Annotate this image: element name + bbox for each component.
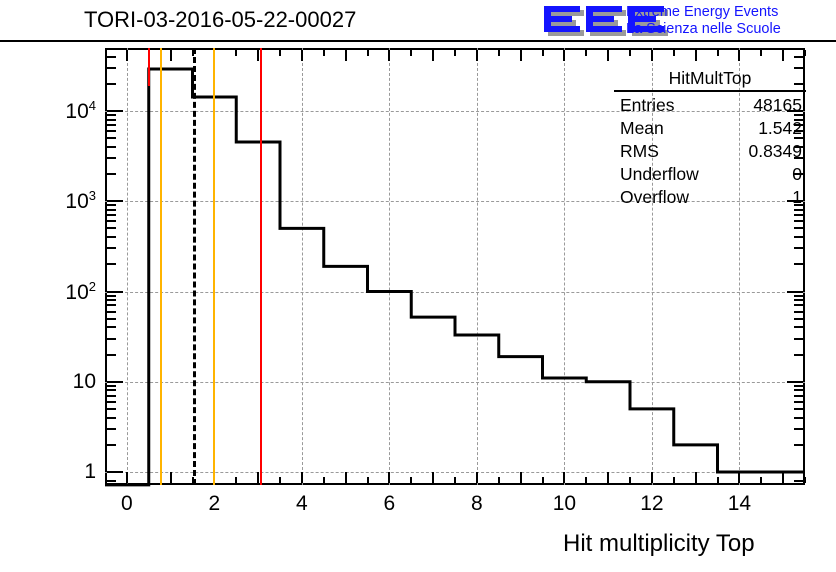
black-solid-marker [148,48,150,485]
stats-divider [614,90,806,92]
x-tick-label: 8 [471,492,483,516]
x-tick-label: 0 [121,492,133,516]
eee-tagline-2: La Scienza nelle Scuole [626,21,781,38]
stats-row-key: Underflow [620,163,699,186]
y-tick-label: 102 [0,279,96,305]
stats-row-key: Mean [620,117,664,140]
eee-logo-text: Extreme Energy Events La Scienza nelle S… [626,4,781,38]
stats-box: HitMultTop Entries48165Mean1.542RMS0.834… [612,66,808,212]
header-divider [0,40,836,42]
y-tick-label: 1 [0,460,96,484]
y-tick-label: 103 [0,188,96,214]
stats-row: RMS0.8349 [612,140,808,163]
page-title: TORI-03-2016-05-22-00027 [84,7,356,33]
x-tick-label: 10 [553,492,576,516]
stats-title: HitMultTop [612,66,808,90]
orange-marker-high [213,48,215,485]
stats-row: Entries48165 [612,94,808,117]
red-marker-left [148,48,150,86]
stats-row-value: 1 [792,186,802,209]
y-tick-label: 10 [0,370,96,394]
x-axis-title: Hit multiplicity Top [563,530,755,558]
orange-marker-low [160,48,162,485]
stats-row: Mean1.542 [612,117,808,140]
eee-logo: Extreme Energy Events La Scienza nelle S… [542,3,832,41]
stats-row-key: RMS [620,140,659,163]
eee-tagline-1: Extreme Energy Events [626,4,781,21]
stats-row-value: 0.8349 [748,140,802,163]
stats-row: Overflow1 [612,186,808,209]
stats-row: Underflow0 [612,163,808,186]
stats-row-value: 48165 [753,94,802,117]
stats-row-value: 1.542 [758,117,802,140]
stats-row-key: Entries [620,94,674,117]
red-marker [260,48,262,485]
histogram-plot: HitMultTop Entries48165Mean1.542RMS0.834… [105,48,805,485]
black-dashed-marker [193,48,196,485]
root-canvas: TORI-03-2016-05-22-00027 [0,0,836,572]
x-tick-label: 6 [384,492,396,516]
x-tick-label: 14 [728,492,751,516]
y-tick-label: 104 [0,98,96,124]
x-tick-label: 2 [209,492,221,516]
x-tick-label: 12 [640,492,663,516]
stats-row-key: Overflow [620,186,689,209]
stats-row-value: 0 [792,163,802,186]
x-tick-label: 4 [296,492,308,516]
